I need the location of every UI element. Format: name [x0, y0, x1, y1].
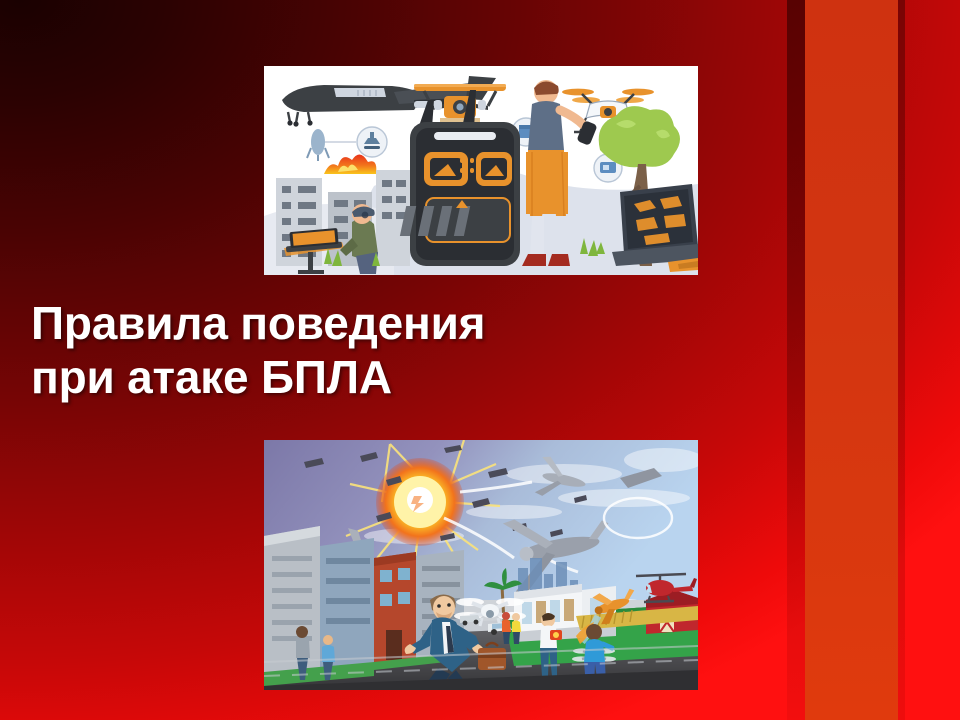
drone-attack-scene-graphic — [264, 440, 698, 690]
background-stripe-shadow — [787, 0, 805, 720]
jet-target-icon — [357, 127, 387, 157]
slide-title: Правила поведения при атаке БПЛА — [31, 296, 651, 405]
background-accent-stripe — [805, 0, 898, 720]
drone-infographic-image — [264, 66, 698, 275]
drone-attack-scene-image — [264, 440, 698, 690]
presentation-slide: Правила поведения при атаке БПЛА — [0, 0, 960, 720]
background-stripe-edge — [898, 0, 905, 720]
map-laptop — [612, 184, 698, 272]
drone-infographic-graphic — [264, 66, 698, 275]
